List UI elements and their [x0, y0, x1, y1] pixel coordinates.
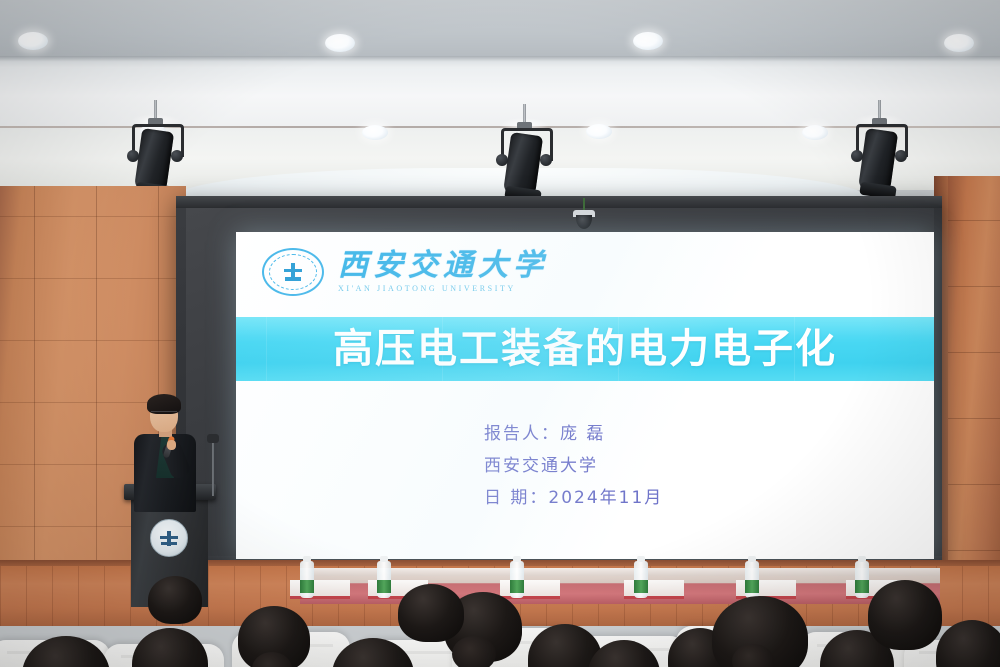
slide-logo-row: 西安交通大学 XI'AN JIAOTONG UNIVERSITY: [262, 248, 548, 296]
downlight-1: [18, 32, 48, 50]
stage-spotlight-center: [495, 104, 555, 204]
slide-meta-date: 日 期：2024年11月: [484, 482, 663, 514]
downlight-8: [802, 125, 828, 140]
ceiling-dome-camera-icon: [572, 210, 596, 230]
university-seal-icon: [262, 248, 324, 296]
stage-spotlight-left: [126, 100, 186, 200]
downlight-3: [633, 32, 663, 50]
downlight-4: [944, 34, 974, 52]
downlight-7: [586, 124, 612, 139]
audience-head: [148, 576, 202, 624]
slide-title-band: 高压电工装备的电力电子化: [236, 317, 934, 381]
presenter-glasses-icon: [151, 411, 177, 418]
audience-head: [936, 620, 1000, 667]
downlight-6: [362, 125, 388, 140]
downlight-2: [325, 34, 355, 52]
presenter: [126, 394, 206, 512]
slide-meta-block: 报告人：庞 磊 西安交通大学 日 期：2024年11月: [484, 418, 663, 514]
slide-meta-presenter: 报告人：庞 磊: [484, 418, 663, 450]
stage-spotlight-right: [850, 100, 910, 200]
slide-title: 高压电工装备的电力电子化: [333, 329, 837, 369]
auditorium-photo: 西安交通大学 XI'AN JIAOTONG UNIVERSITY 高压电工装备的…: [0, 0, 1000, 667]
university-name-en: XI'AN JIAOTONG UNIVERSITY: [338, 284, 548, 293]
screen-top-rail: [176, 196, 942, 208]
university-name-zh: 西安交通大学: [338, 251, 548, 281]
audience-head: [868, 580, 942, 650]
audience-seating: [0, 540, 1000, 667]
ceiling-upper-panel: [0, 0, 1000, 62]
presenter-hand: [167, 440, 176, 450]
audience-head: [398, 584, 464, 642]
projected-slide: 西安交通大学 XI'AN JIAOTONG UNIVERSITY 高压电工装备的…: [236, 232, 934, 559]
podium-microphone-stand-icon: [212, 440, 214, 496]
audience-head: [132, 628, 208, 667]
slide-meta-affiliation: 西安交通大学: [484, 450, 663, 482]
audience-hair-bun: [452, 636, 496, 667]
